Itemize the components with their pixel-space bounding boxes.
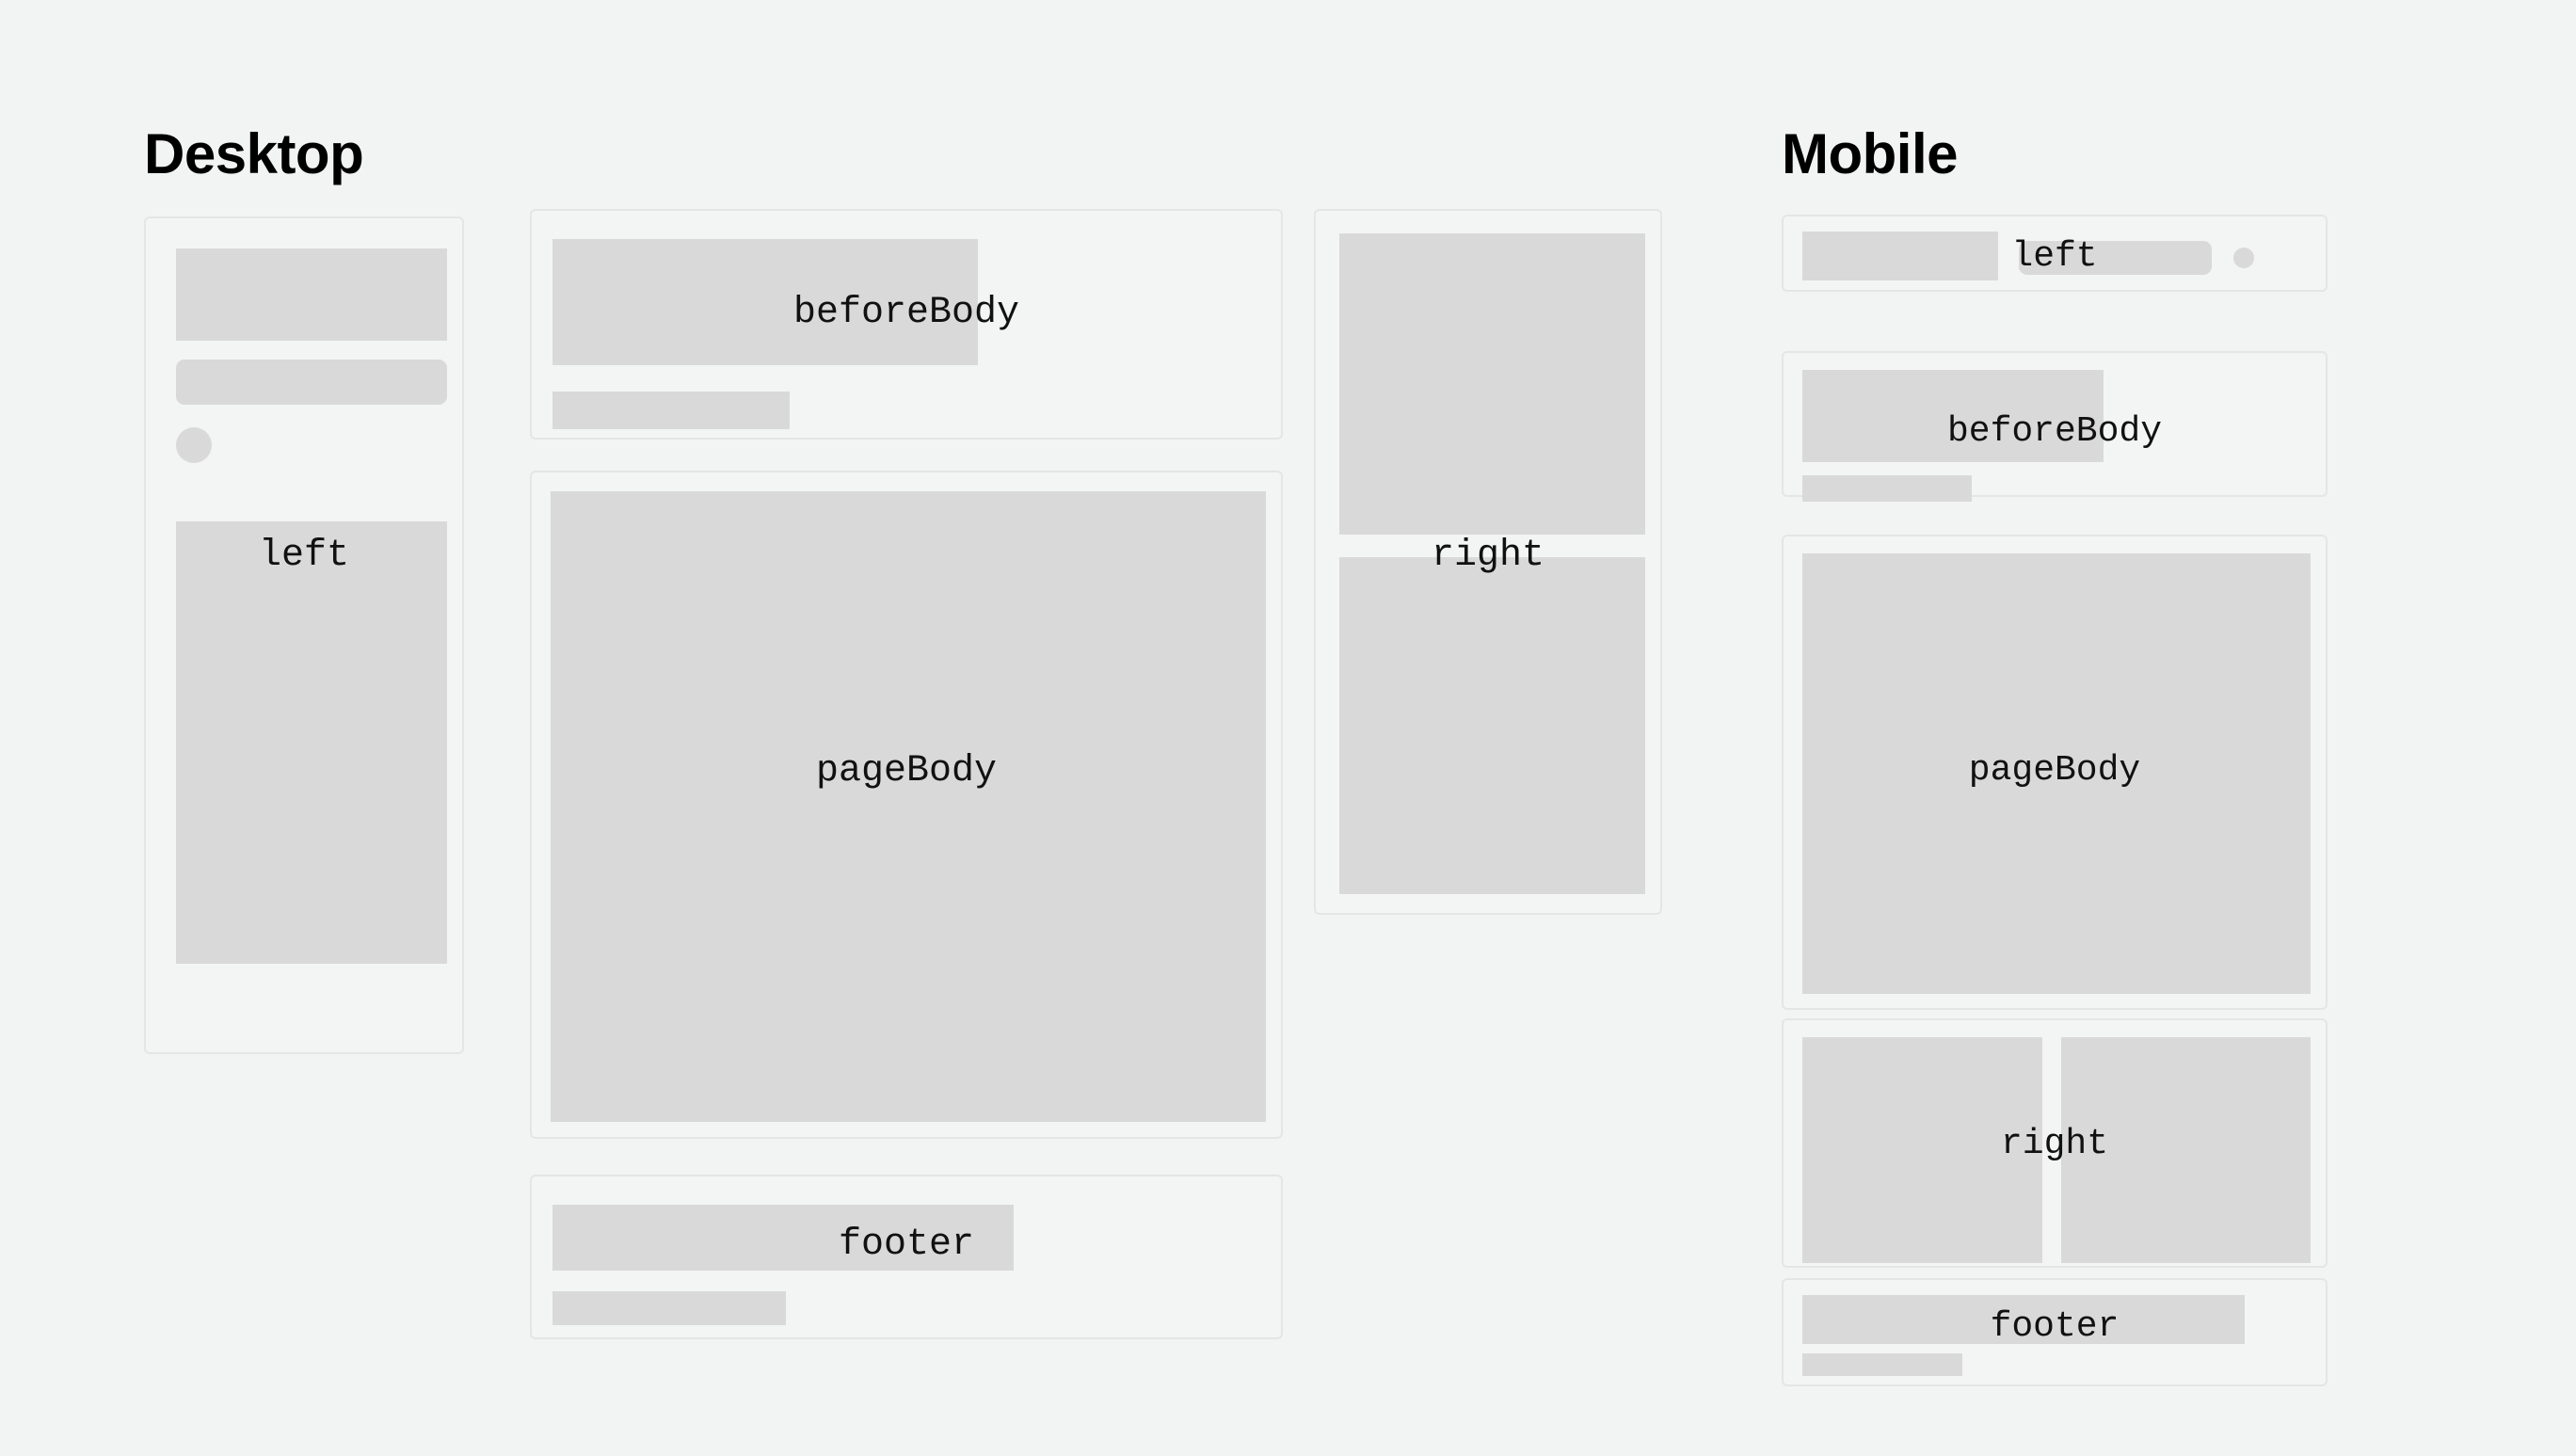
desktop-slot-right-panel[interactable] xyxy=(1314,209,1662,915)
placeholder-bar xyxy=(1802,1295,2245,1344)
placeholder-block xyxy=(1339,233,1645,535)
placeholder-avatar-circle xyxy=(2233,248,2254,268)
placeholder-block xyxy=(176,248,447,341)
placeholder-block xyxy=(1802,553,2311,994)
mobile-slot-right-panel[interactable] xyxy=(1782,1018,2328,1268)
placeholder-block xyxy=(552,239,978,365)
mobile-slot-footer-panel[interactable] xyxy=(1782,1278,2328,1386)
placeholder-bar xyxy=(552,1205,1014,1271)
desktop-slot-footer-panel[interactable] xyxy=(530,1175,1283,1339)
placeholder-block xyxy=(1802,1037,2042,1263)
placeholder-bar xyxy=(2019,241,2212,275)
placeholder-bar xyxy=(1802,475,1972,502)
desktop-slot-left-panel[interactable] xyxy=(144,216,464,1054)
desktop-column-title: Desktop xyxy=(144,126,363,183)
placeholder-bar xyxy=(552,1291,786,1325)
placeholder-block xyxy=(1802,370,2104,462)
placeholder-avatar-circle xyxy=(176,427,212,463)
placeholder-block xyxy=(551,491,1266,1122)
mobile-slot-left-panel[interactable] xyxy=(1782,215,2328,292)
mobile-slot-pagebody-panel[interactable] xyxy=(1782,535,2328,1010)
placeholder-block xyxy=(1802,232,1998,280)
desktop-slot-pagebody-panel[interactable] xyxy=(530,471,1283,1139)
mobile-column-title: Mobile xyxy=(1782,126,1958,183)
placeholder-block xyxy=(176,521,447,964)
placeholder-bar xyxy=(176,360,447,405)
placeholder-block xyxy=(2061,1037,2311,1263)
mobile-slot-beforebody-panel[interactable] xyxy=(1782,351,2328,497)
placeholder-block xyxy=(1339,557,1645,894)
placeholder-bar xyxy=(552,392,790,429)
placeholder-bar xyxy=(1802,1353,1962,1376)
desktop-slot-beforebody-panel[interactable] xyxy=(530,209,1283,440)
